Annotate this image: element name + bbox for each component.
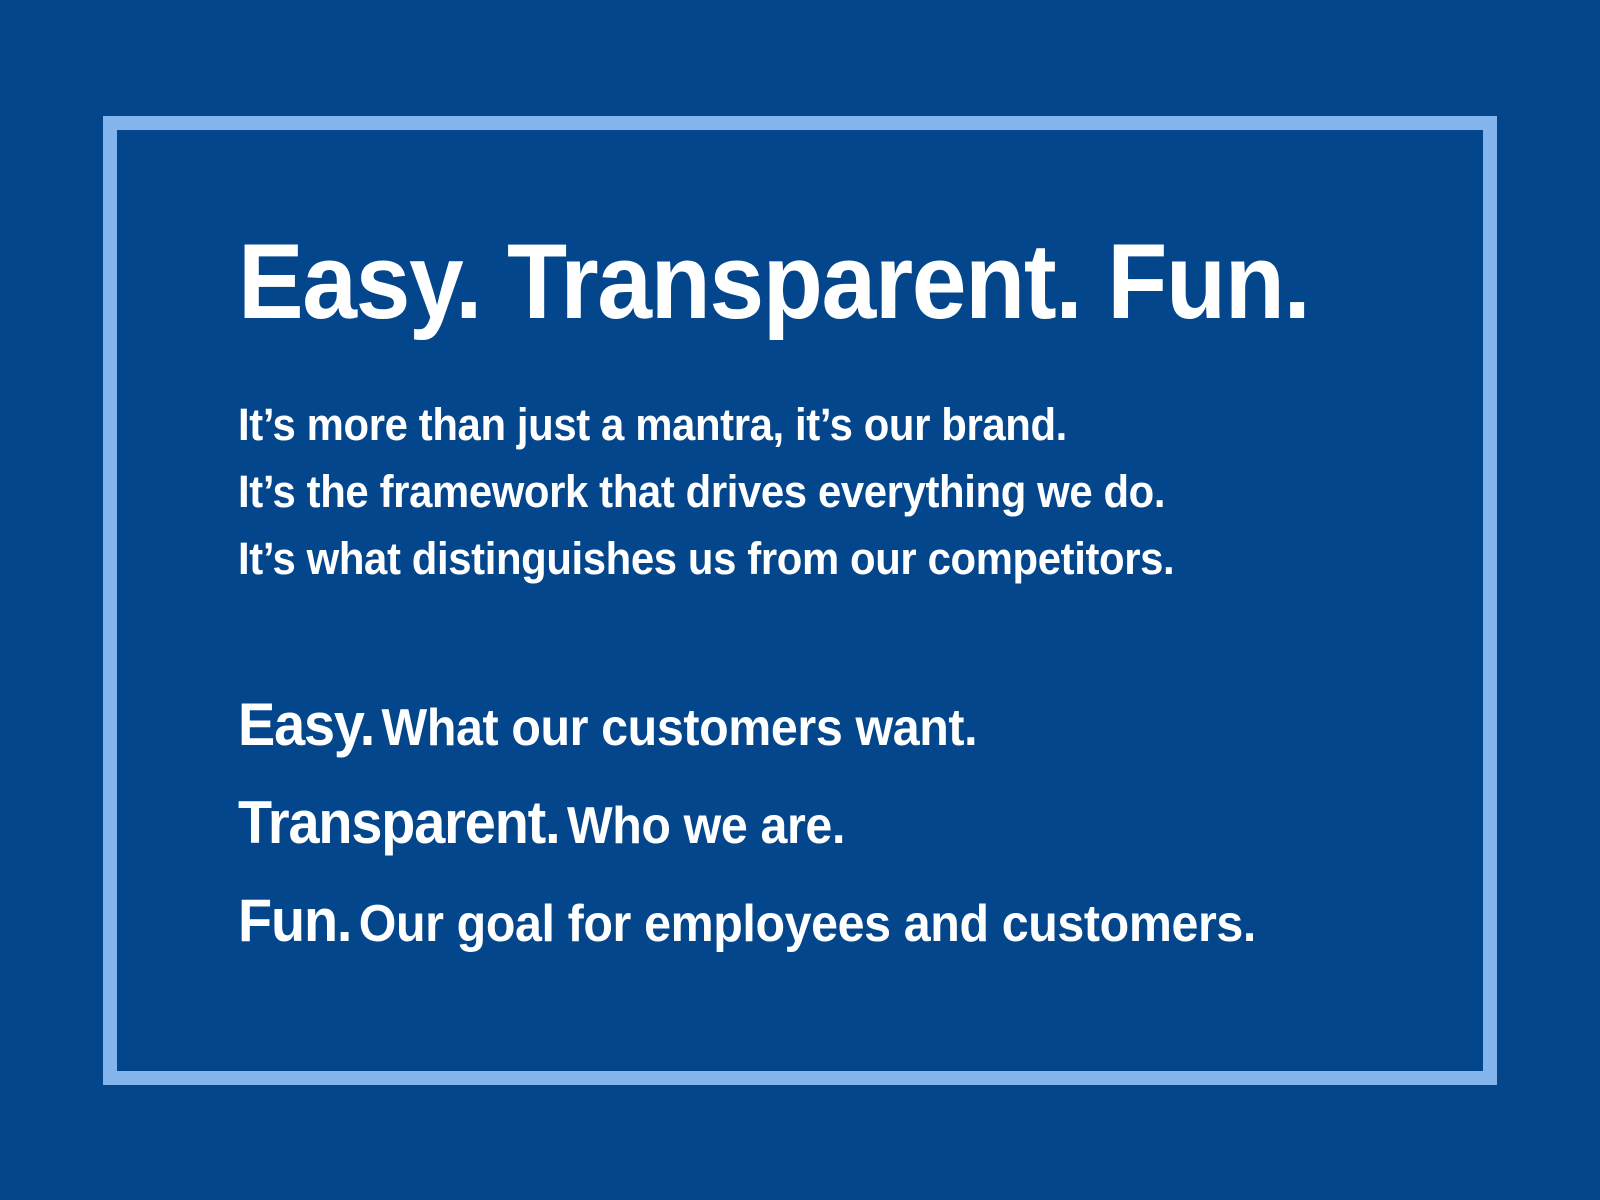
pillar-term-fun: Fun. [238,887,351,954]
pillars-list: Easy.What our customers want. Transparen… [238,684,1418,978]
pillar-item-easy: Easy.What our customers want. [238,684,1335,782]
intro-line-2: It’s the framework that drives everythin… [238,458,1335,525]
brand-mantra-slide: Easy. Transparent. Fun. It’s more than j… [0,0,1600,1200]
pillar-item-fun: Fun.Our goal for employees and customers… [238,880,1335,978]
page-title: Easy. Transparent. Fun. [238,228,1324,335]
intro-paragraph: It’s more than just a mantra, it’s our b… [238,391,1418,592]
pillar-description-transparent: Who we are. [560,797,846,855]
pillar-term-easy: Easy. [238,691,374,758]
slide-content: Easy. Transparent. Fun. It’s more than j… [238,228,1418,978]
intro-line-3: It’s what distinguishes us from our comp… [238,525,1335,592]
intro-line-1: It’s more than just a mantra, it’s our b… [238,391,1335,458]
pillar-description-easy: What our customers want. [374,699,977,757]
pillar-item-transparent: Transparent.Who we are. [238,782,1335,880]
pillar-term-transparent: Transparent. [238,789,560,856]
pillar-description-fun: Our goal for employees and customers. [351,895,1256,953]
